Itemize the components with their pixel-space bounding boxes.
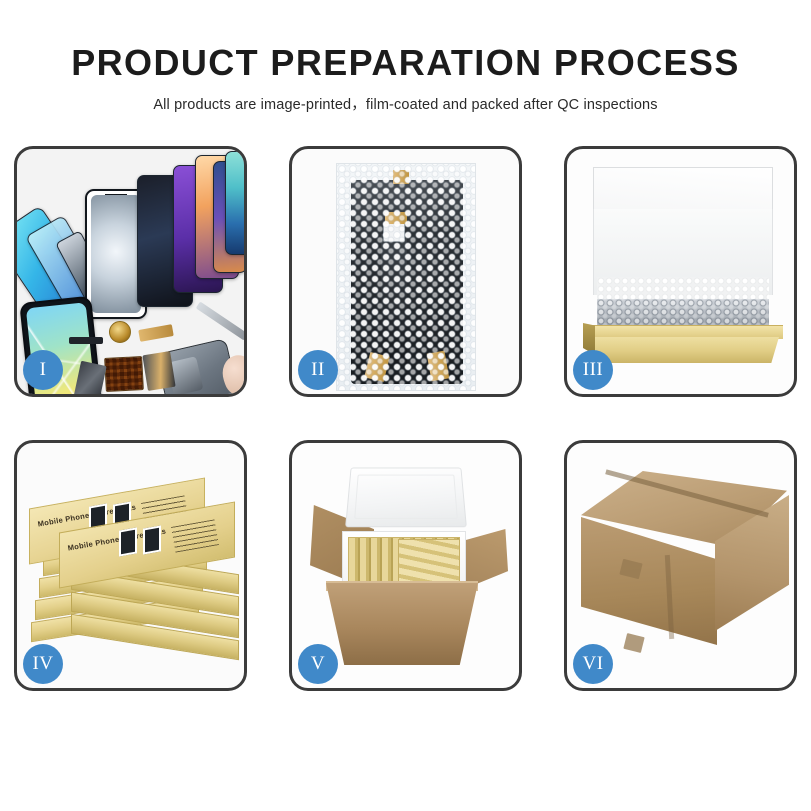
step-panel-v: V bbox=[289, 440, 522, 691]
step-badge-iv: IV bbox=[23, 644, 63, 684]
step-panel-iv: Mobile Phone Spare Parts Mobile Phone Sp… bbox=[14, 440, 247, 691]
step-badge-ii: II bbox=[298, 350, 338, 390]
carton-body bbox=[326, 583, 478, 665]
box-lip bbox=[583, 325, 783, 339]
chip-grid-icon bbox=[104, 356, 144, 392]
flex-cable-gold-icon bbox=[142, 351, 175, 391]
step-badge-vi: VI bbox=[573, 644, 613, 684]
box-front-panel bbox=[587, 337, 779, 363]
speaker-bar-icon bbox=[69, 337, 103, 344]
step-badge-i: I bbox=[23, 350, 63, 390]
bubble-wrap-bag bbox=[336, 163, 476, 391]
gold-box-stack: Mobile Phone Spare Parts Mobile Phone Sp… bbox=[27, 459, 241, 675]
foam-cooler-lid bbox=[345, 468, 467, 528]
step-panel-ii: II bbox=[289, 146, 522, 397]
page-header: PRODUCT PREPARATION PROCESS All products… bbox=[0, 0, 811, 114]
step-badge-iii: III bbox=[573, 350, 613, 390]
carton-tape-patch bbox=[623, 633, 644, 653]
copper-coil-icon bbox=[109, 321, 131, 343]
page-subtitle: All products are image-printed，film-coat… bbox=[0, 93, 811, 114]
step-panel-iii: III bbox=[564, 146, 797, 397]
bubble-texture-overlay bbox=[337, 164, 475, 390]
gold-inner-box bbox=[583, 299, 783, 365]
teal-phone-screen-icon bbox=[225, 151, 247, 255]
gold-boxes-in-foam-secondary bbox=[398, 539, 460, 585]
step-badge-v: V bbox=[298, 644, 338, 684]
step-panel-i: I bbox=[14, 146, 247, 397]
step-panel-vi: VI bbox=[564, 440, 797, 691]
box-screen-photo bbox=[119, 527, 137, 556]
process-steps-grid: I II bbox=[14, 146, 798, 742]
gold-ribbon-cable-icon bbox=[138, 324, 174, 342]
box-screen-photo bbox=[143, 525, 161, 554]
page-title: PRODUCT PREPARATION PROCESS bbox=[0, 44, 811, 82]
tweezers-icon bbox=[196, 301, 247, 340]
phone-display-icon bbox=[91, 195, 141, 313]
